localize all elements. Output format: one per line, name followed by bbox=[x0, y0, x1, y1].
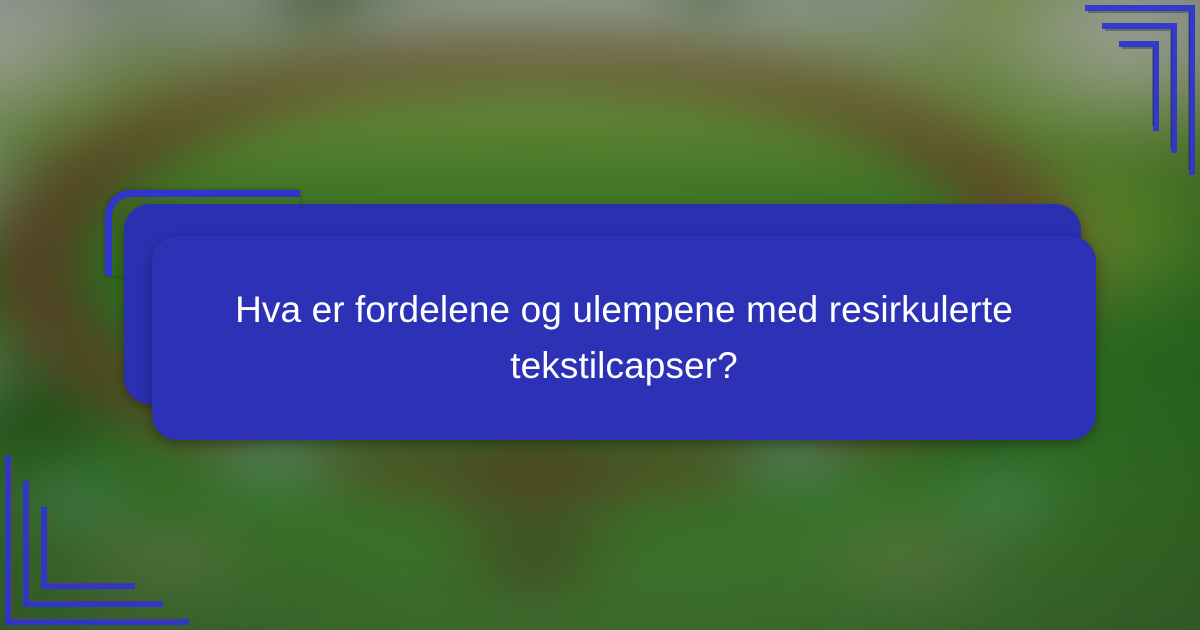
page-title: Hva er fordelene og ulempene med resirku… bbox=[208, 282, 1040, 394]
share-card-canvas: Hva er fordelene og ulempene med resirku… bbox=[0, 0, 1200, 630]
headline-container: Hva er fordelene og ulempene med resirku… bbox=[152, 236, 1096, 440]
